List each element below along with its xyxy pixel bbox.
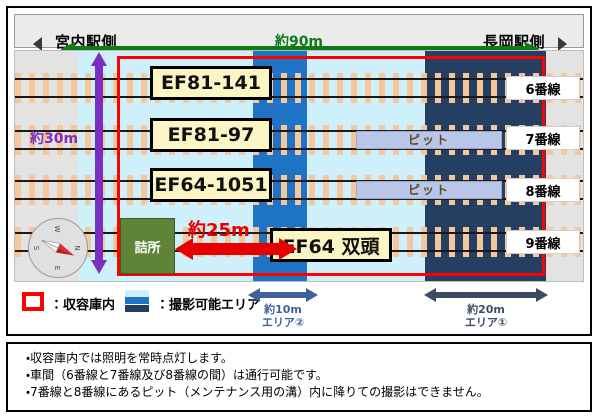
notes-list: ・収容庫内では照明を常時点灯します。 ・車間（6番線と7番線及び8番線の間）は通… xyxy=(26,350,576,401)
legend-photo-area-label: ：撮影可能エリア xyxy=(156,294,260,313)
track-label-9: 9番線 xyxy=(506,230,580,254)
loco-plate-ef81-141: EF81-141 xyxy=(150,66,272,100)
arrow-head-left-icon xyxy=(175,238,193,260)
note-item: ・収容庫内では照明を常時点灯します。 xyxy=(26,350,576,367)
compass-rose-icon: N E S W xyxy=(28,218,88,278)
area1-distance: 約20m xyxy=(467,303,505,316)
svg-text:W: W xyxy=(53,226,61,233)
area1-name: エリア① xyxy=(465,316,507,329)
arrow-shaft xyxy=(435,292,537,298)
svg-text:E: E xyxy=(53,266,61,270)
arrow-head-right-icon xyxy=(279,238,297,260)
area1-measure-label: 約20m エリア① xyxy=(424,303,548,329)
crew-hut: 詰所 xyxy=(120,218,175,274)
legend-swatch-area2 xyxy=(125,297,149,304)
legend-enclosure-swatch xyxy=(22,292,44,311)
arrow-head-right-icon xyxy=(536,288,548,302)
depth-arrow xyxy=(91,52,107,274)
arrow-shaft xyxy=(259,292,307,298)
note-item: ・車間（6番線と7番線及び8番線の間）は通行可能です。 xyxy=(26,367,576,384)
pit-track-7: ピット xyxy=(356,131,502,149)
arrow-shaft xyxy=(192,243,280,255)
track-label-6: 6番線 xyxy=(506,76,580,100)
legend-enclosure-label: ：収容庫内 xyxy=(50,294,115,313)
legend-swatch-light xyxy=(125,290,149,297)
area2-name: エリア② xyxy=(262,316,304,329)
depth-label: 約30m xyxy=(30,128,78,148)
arrow-head-down-icon xyxy=(91,260,107,274)
note-item: ・7番線と8番線にあるピット（メンテナンス用の溝）内に降りての撮影はできません。 xyxy=(26,384,576,401)
svg-text:S: S xyxy=(32,246,40,251)
pit-track-8: ピット xyxy=(356,181,502,199)
track-label-8: 8番線 xyxy=(506,178,580,202)
track-label-7: 7番線 xyxy=(506,126,580,150)
legend-swatch-area1 xyxy=(125,305,149,312)
arrow-shaft xyxy=(95,65,103,261)
area1-measure-arrow xyxy=(424,288,548,302)
svg-text:N: N xyxy=(73,245,81,250)
loco-plate-ef64-1051: EF64-1051 xyxy=(150,168,272,202)
loco-plate-ef81-97: EF81-97 xyxy=(150,118,272,152)
area2-measure-label: 約10m エリア② xyxy=(248,303,318,329)
gap-arrow xyxy=(175,238,297,260)
arrow-head-right-icon xyxy=(306,288,318,302)
depot-layout-diagram: 宮内駅側 長岡駅側 約90m xyxy=(0,0,600,418)
area2-distance: 約10m xyxy=(264,303,302,316)
arrow-head-up-icon xyxy=(91,52,107,66)
area2-measure-arrow xyxy=(248,288,318,302)
